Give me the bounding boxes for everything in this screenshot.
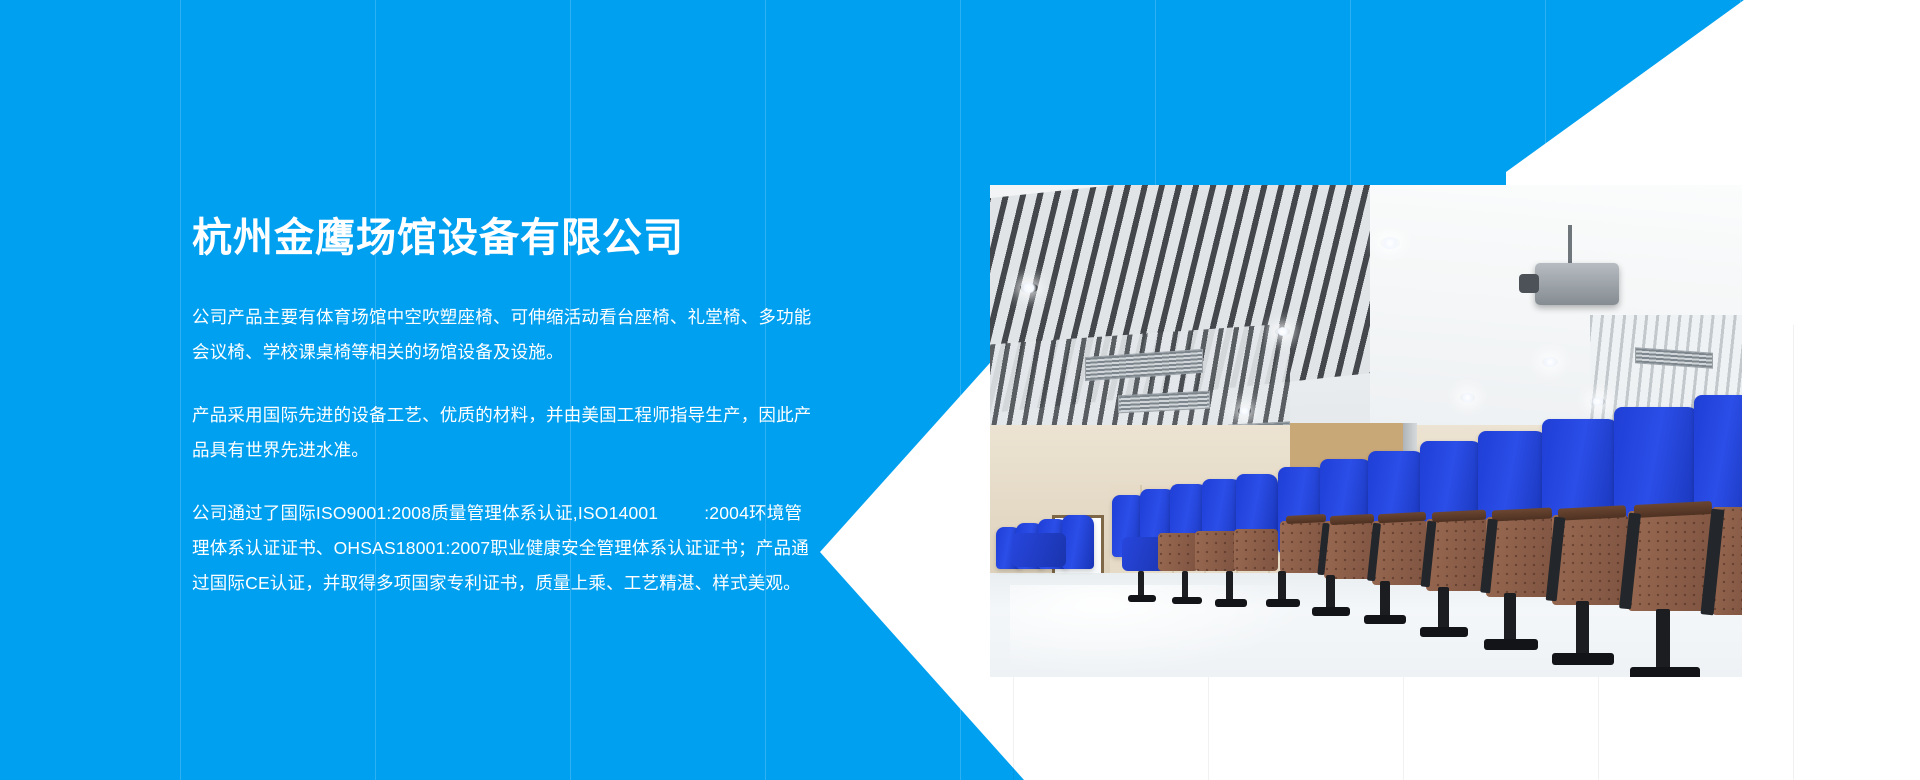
ceiling-light-2 — [1380, 237, 1400, 249]
seat-near-foot-7 — [1630, 667, 1700, 677]
company-paragraph-certifications: 公司通过了国际ISO9001:2008质量管理体系认证,ISO14001:200… — [192, 496, 812, 601]
seat-near-foot-1 — [1266, 599, 1300, 607]
seat-near-foot-6 — [1552, 653, 1614, 665]
ceiling-light-8 — [1238, 407, 1251, 415]
ceiling-light-6 — [1590, 397, 1605, 406]
seat-mid-back-1 — [1158, 533, 1198, 571]
ceiling-projector — [1535, 263, 1619, 305]
seat-near-foot-4 — [1420, 627, 1468, 637]
page-title: 杭州金鹰场馆设备有限公司 — [192, 214, 812, 262]
seat-mid-foot-2 — [1172, 597, 1202, 604]
seat-near-back-7 — [1628, 511, 1714, 611]
ceiling-light-3 — [1275, 327, 1290, 336]
seat-near-leg-5 — [1504, 593, 1516, 645]
seat-mid-leg-1 — [1138, 571, 1144, 597]
floor-reflection — [1010, 585, 1310, 675]
company-paragraph-quality: 产品采用国际先进的设备工艺、优质的材料，并由美国工程师指导生产，因此产品具有世界… — [192, 398, 812, 468]
seat-mid-back-2 — [1195, 531, 1237, 571]
seat-mid-leg-2 — [1182, 571, 1188, 599]
seat-far-side — [1012, 533, 1066, 567]
seat-mid-foot-3 — [1215, 599, 1247, 607]
auditorium-photo — [990, 185, 1742, 677]
seat-near-leg-6 — [1576, 601, 1589, 659]
seat-near-leg-2 — [1326, 575, 1335, 611]
seat-near-back-3 — [1372, 521, 1428, 585]
hero-banner: 杭州金鹰场馆设备有限公司 公司产品主要有体育场馆中空吹塑座椅、可伸缩活动看台座椅… — [0, 0, 1920, 780]
ceiling-light-4 — [1542, 357, 1558, 367]
seat-mid-foot-1 — [1128, 595, 1156, 602]
seat-far-4 — [1062, 515, 1094, 569]
ceiling-light-1 — [1020, 283, 1038, 293]
ceiling-light-5 — [1460, 393, 1475, 402]
projector-mount-arm — [1568, 225, 1572, 267]
company-text-column: 杭州金鹰场馆设备有限公司 公司产品主要有体育场馆中空吹塑座椅、可伸缩活动看台座椅… — [192, 214, 812, 601]
seat-mid-back-3 — [1234, 529, 1278, 571]
seat-near-foot-5 — [1484, 639, 1538, 650]
seat-near-leg-7 — [1656, 609, 1670, 673]
seat-mid-leg-3 — [1226, 571, 1233, 601]
seat-near-foot-3 — [1364, 615, 1406, 624]
company-paragraph-products: 公司产品主要有体育场馆中空吹塑座椅、可伸缩活动看台座椅、礼堂椅、多功能会议椅、学… — [192, 300, 812, 370]
certification-text-part1: 公司通过了国际ISO9001:2008质量管理体系认证,ISO14001 — [192, 503, 658, 523]
auditorium-photo-content — [990, 185, 1742, 677]
seat-near-foot-2 — [1312, 607, 1350, 616]
